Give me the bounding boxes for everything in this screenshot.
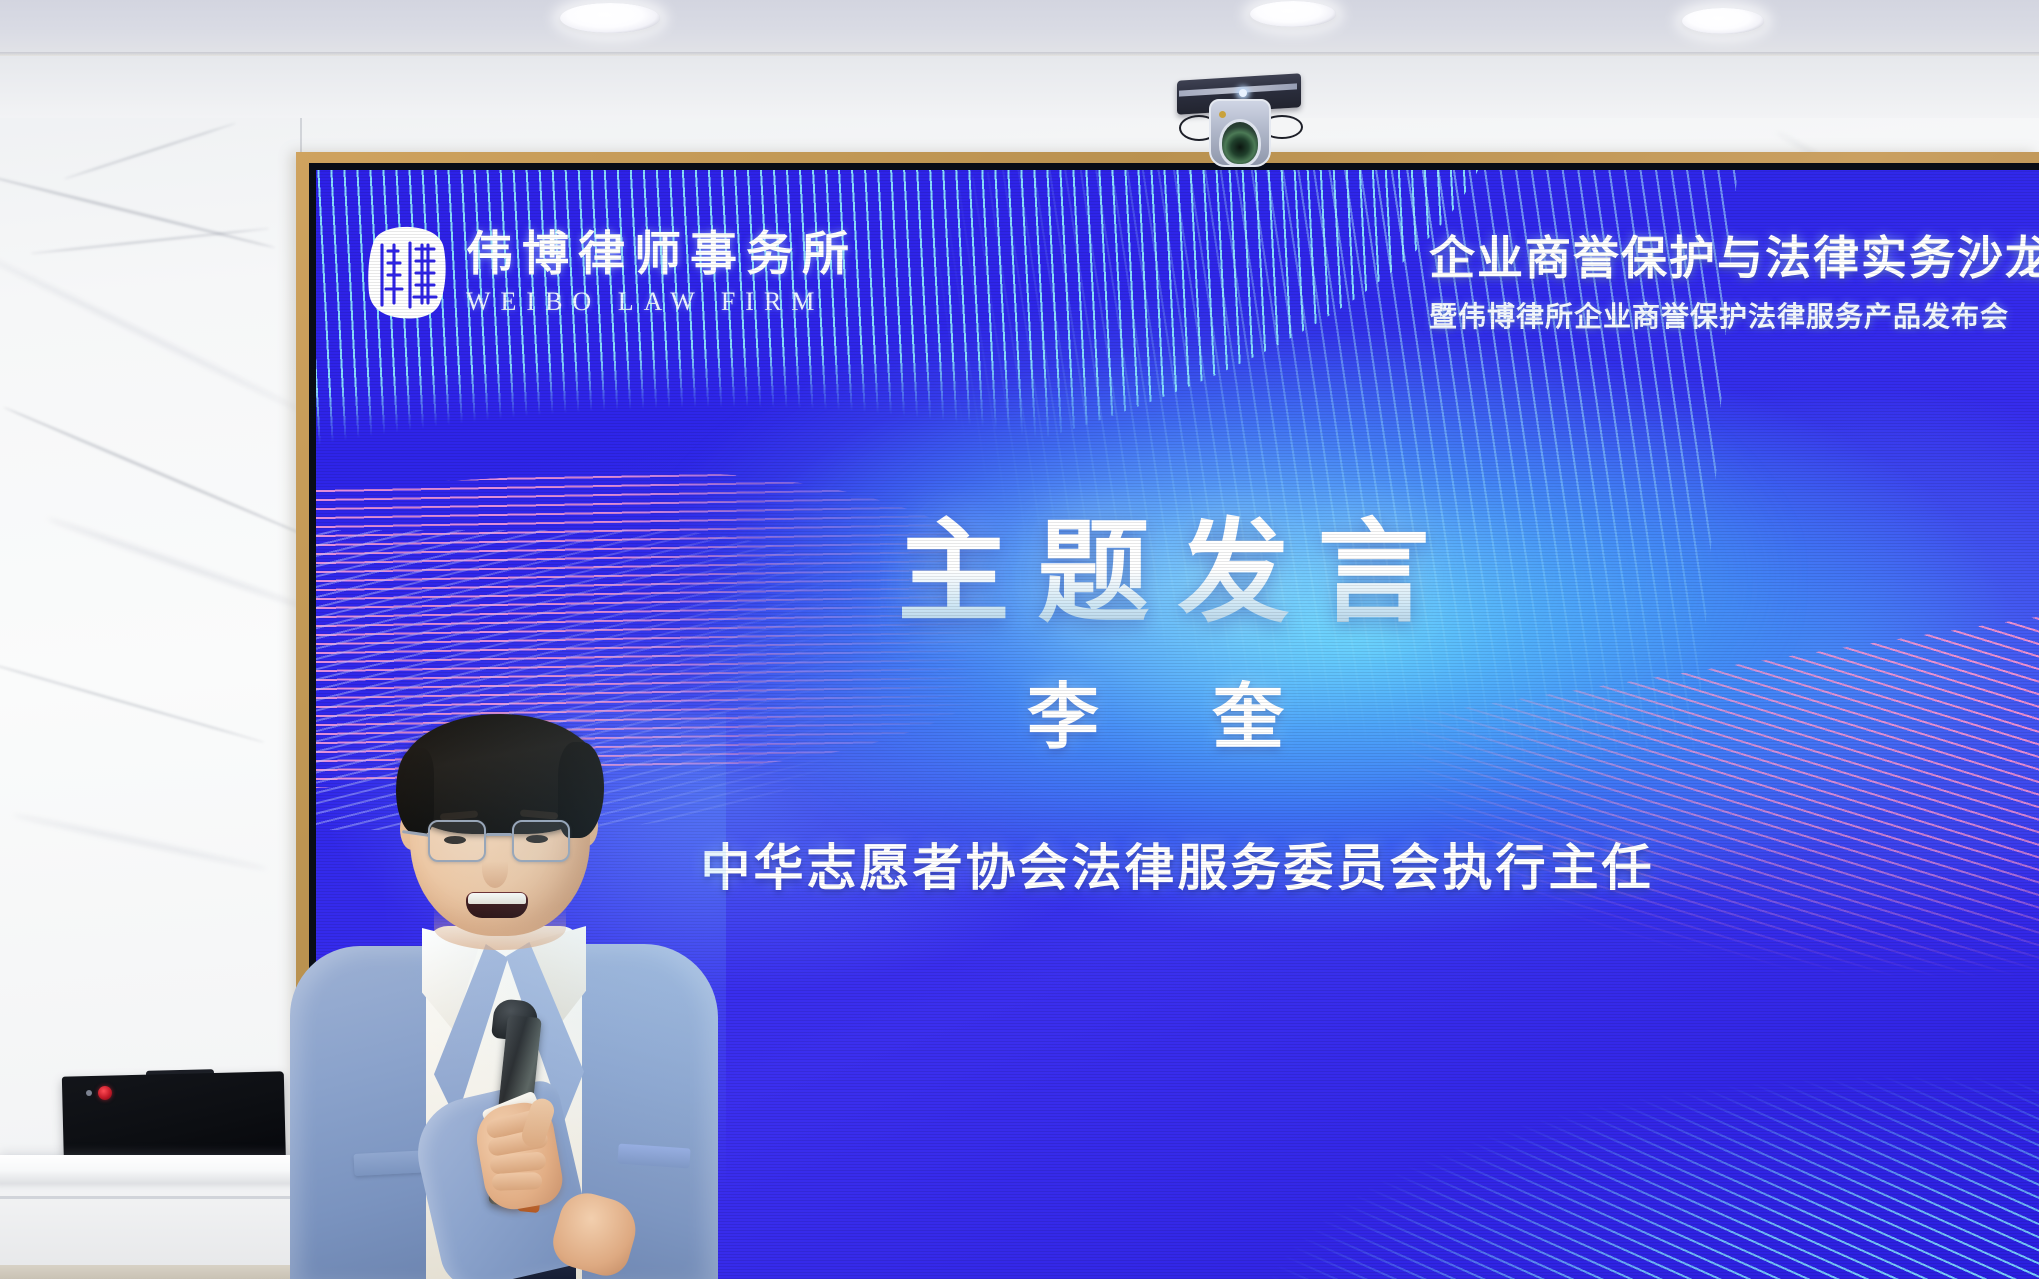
- eyeglasses-bridge: [486, 833, 512, 836]
- teeth: [468, 893, 526, 904]
- firm-name-en: WEIBO LAW FIRM: [466, 289, 858, 315]
- floor: [0, 1265, 300, 1279]
- wall-upper-band: [0, 56, 2039, 118]
- firm-name-cn: 伟博律师事务所: [466, 231, 858, 278]
- mouth-speaking: [466, 892, 528, 918]
- ceiling-downlight-icon: [560, 3, 660, 33]
- nose: [482, 850, 508, 888]
- hair-left-side: [396, 748, 434, 834]
- laptop-camera-icon: [86, 1090, 92, 1096]
- screenshot-root: 伟博律师事务所 WEIBO LAW FIRM 企业商誉保护与法律实务沙龙 暨伟博…: [0, 0, 2039, 1279]
- lectern-edge-groove: [0, 1196, 338, 1199]
- power-led-indicator-icon: [1239, 89, 1247, 97]
- firm-logo: 伟博律师事务所 WEIBO LAW FIRM: [364, 225, 858, 321]
- event-title-block: 企业商誉保护与法律实务沙龙 暨伟博律所企业商誉保护法律服务产品发布会: [1429, 222, 2039, 335]
- finger: [492, 1172, 543, 1191]
- event-subtitle: 暨伟博律所企业商誉保护法律服务产品发布会: [1429, 295, 2039, 335]
- ptz-conference-camera: [1165, 77, 1315, 167]
- eyeglasses-lens-left: [428, 820, 486, 862]
- camera-lens-icon: [1219, 119, 1261, 167]
- cyan-ribbon-decoration: [1200, 920, 2039, 1279]
- camera-mount-screw: [1219, 111, 1226, 118]
- slide-headline: 主题发言: [316, 482, 2039, 644]
- ceiling-downlight-icon: [1250, 1, 1336, 27]
- event-main-title: 企业商誉保护与法律实务沙龙: [1429, 222, 2039, 288]
- laptop-brand-logo-icon: [98, 1086, 112, 1100]
- ceiling-downlight-icon: [1682, 8, 1764, 34]
- weibo-seal-logo-icon: [364, 225, 450, 321]
- eyeglasses-lens-right: [512, 820, 570, 862]
- presenter-person: [330, 700, 700, 1279]
